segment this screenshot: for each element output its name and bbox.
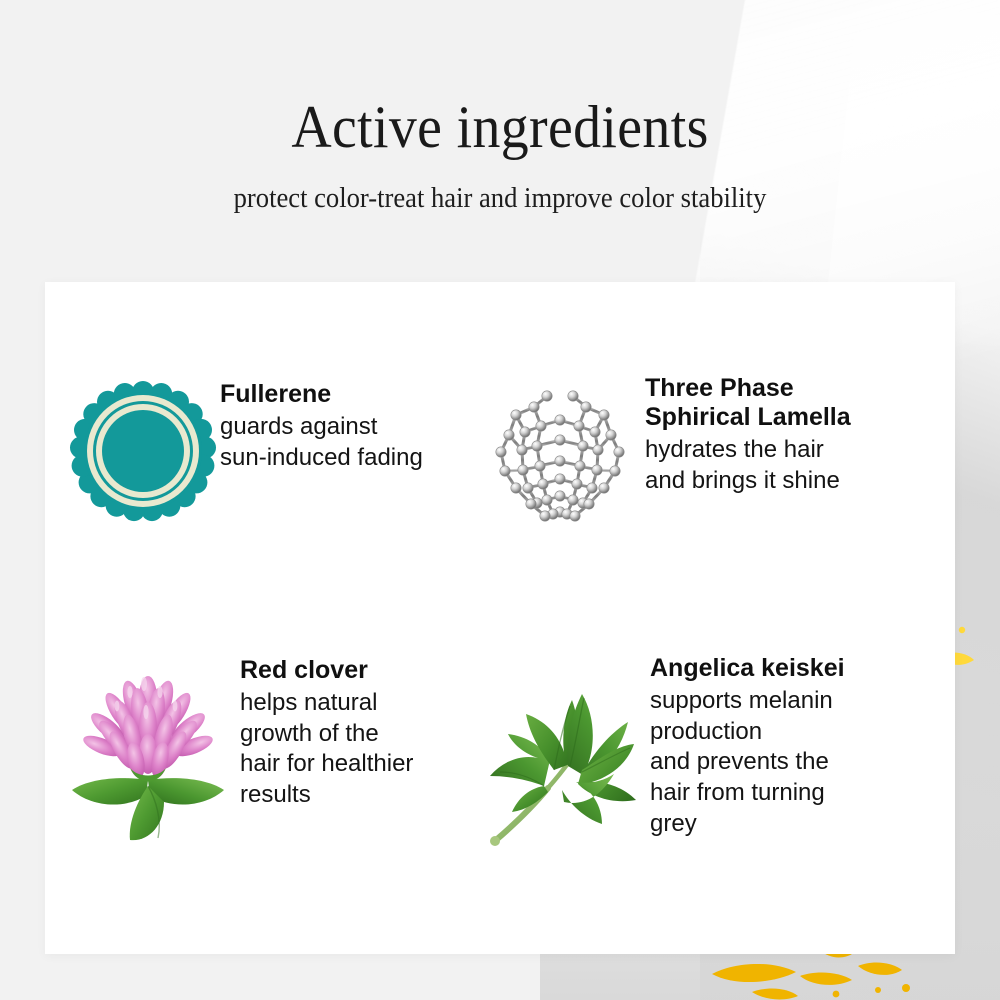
buckyball-molecule-icon: [485, 374, 645, 539]
ingredient-description: helps natural growth of the hair for hea…: [240, 688, 413, 811]
ingredients-card: Fullerene guards against sun-induced fad…: [45, 282, 955, 954]
ingredient-copy: Red clover helps natural growth of the h…: [240, 650, 413, 811]
header: Active ingredients protect color-treat h…: [0, 0, 1000, 215]
ingredient-copy: Three Phase Sphirical Lamella hydrates t…: [645, 374, 851, 496]
ingredient-description: hydrates the hair and brings it shine: [645, 435, 851, 496]
ingredients-grid: Fullerene guards against sun-induced fad…: [45, 282, 955, 954]
ingredient-item-fullerene: Fullerene guards against sun-induced fad…: [60, 374, 423, 539]
ingredient-item-three-phase-sphirical-lamella: Three Phase Sphirical Lamella hydrates t…: [485, 374, 851, 539]
teal-radial-badge-icon: [60, 374, 220, 539]
page-title: Active ingredients: [35, 96, 965, 158]
clover-flower-icon: [60, 650, 240, 850]
ingredient-description: guards against sun-induced fading: [220, 412, 423, 473]
ingredient-copy: Angelica keiskei supports melanin produc…: [650, 650, 845, 840]
ingredient-item-angelica-keiskei: Angelica keiskei supports melanin produc…: [470, 650, 845, 855]
ingredient-name: Fullerene: [220, 380, 423, 409]
ingredient-name: Three Phase Sphirical Lamella: [645, 374, 851, 432]
angelica-leaf-icon: [470, 650, 650, 855]
ingredient-name: Red clover: [240, 656, 413, 685]
ingredient-name: Angelica keiskei: [650, 654, 845, 683]
ingredient-copy: Fullerene guards against sun-induced fad…: [220, 374, 423, 473]
ingredient-description: supports melanin production and prevents…: [650, 686, 845, 840]
ingredient-item-red-clover: Red clover helps natural growth of the h…: [60, 650, 413, 850]
page-subtitle: protect color-treat hair and improve col…: [25, 184, 975, 215]
